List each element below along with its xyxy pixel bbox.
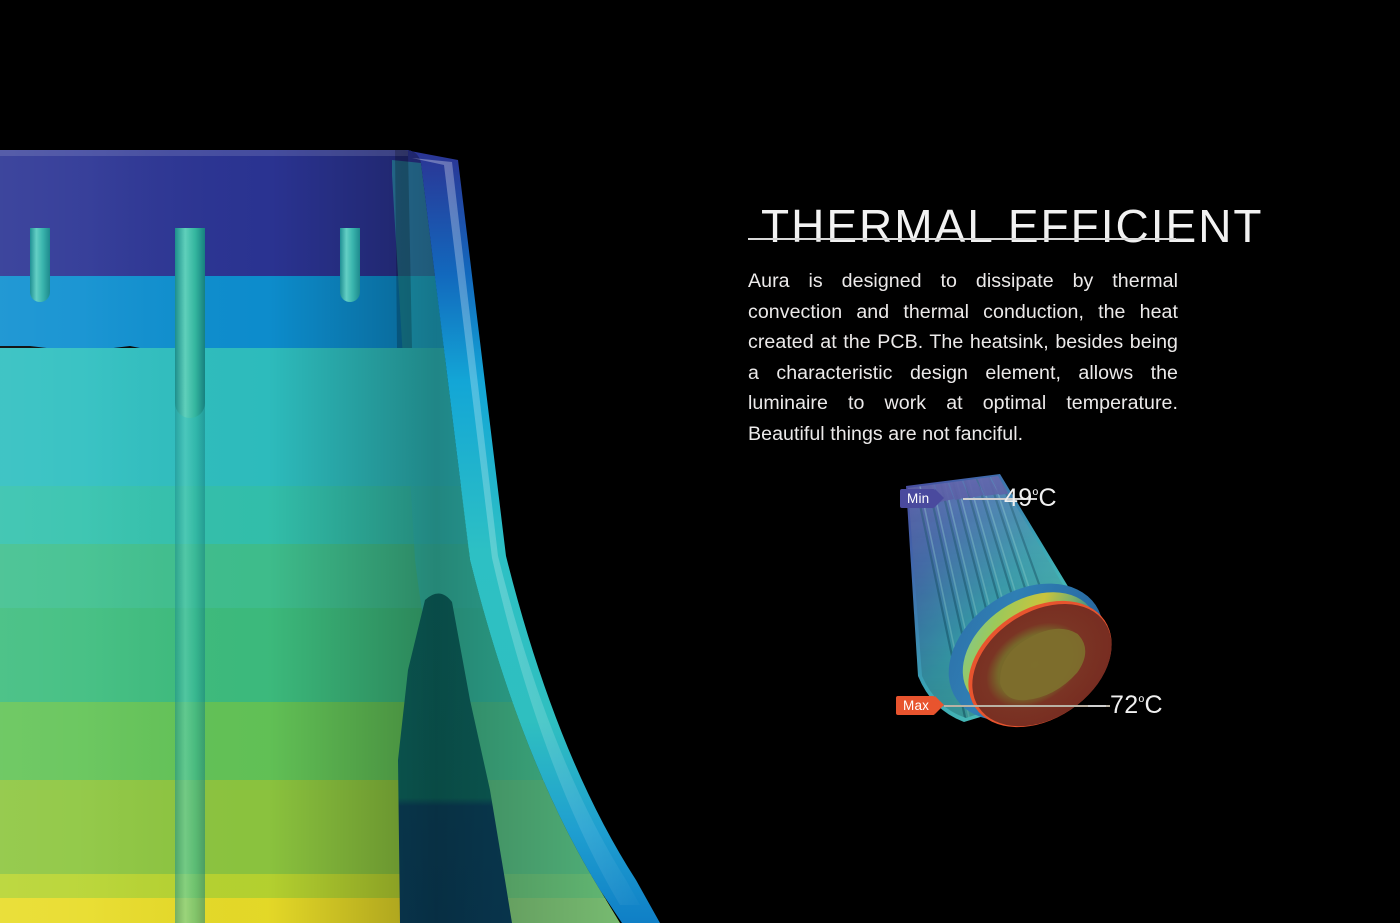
max-leader-line — [944, 705, 1110, 707]
min-badge: Min — [900, 489, 935, 508]
badge-arrow-icon — [935, 696, 944, 714]
title-divider — [748, 238, 1176, 240]
badge-arrow-icon — [935, 489, 944, 507]
max-temp-label: 72ºC — [1110, 693, 1163, 718]
max-leader-line-outer — [1088, 705, 1106, 707]
body-copy: Aura is designed to dissipate by thermal… — [748, 266, 1178, 450]
page-title: THERMAL EFFICIENT — [761, 203, 1191, 249]
min-badge-label: Min — [907, 492, 929, 506]
thermal-efficient-slide: THERMAL EFFICIENT Aura is designed to di… — [0, 0, 1400, 923]
heatsink-thermal-render — [0, 0, 730, 923]
body-paragraph: Aura is designed to dissipate by thermal… — [748, 266, 1178, 450]
min-temp-label: 49ºC — [1004, 486, 1057, 511]
content-column: THERMAL EFFICIENT Aura is designed to di… — [748, 0, 1188, 923]
max-badge-label: Max — [903, 699, 929, 713]
max-badge: Max — [896, 696, 935, 715]
luminaire-thermal-model — [848, 470, 1188, 800]
